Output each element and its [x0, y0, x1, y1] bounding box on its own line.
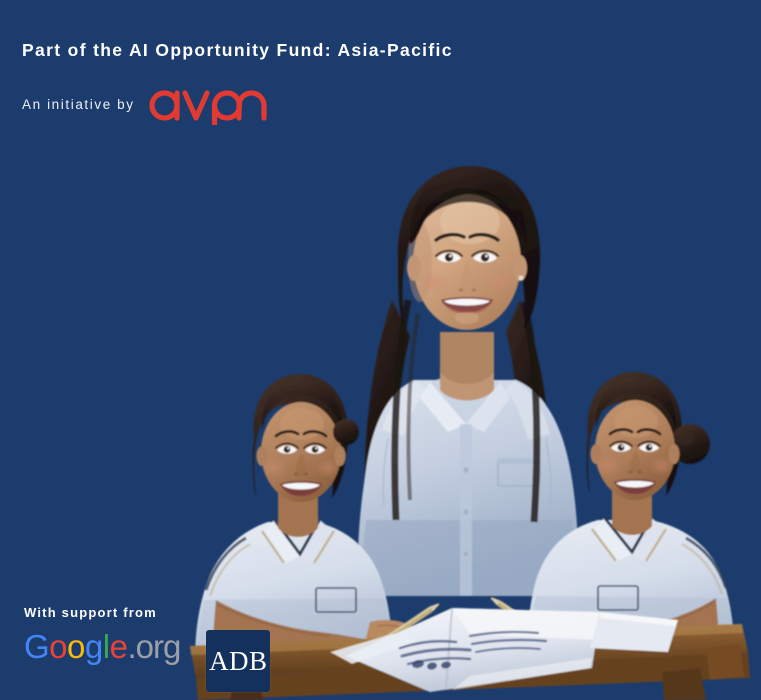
initiative-row: An initiative by [22, 83, 453, 125]
avpn-logo[interactable] [149, 83, 269, 125]
page-title: Part of the AI Opportunity Fund: Asia-Pa… [22, 40, 453, 61]
google-wordmark: Google [24, 628, 127, 665]
banner-header: Part of the AI Opportunity Fund: Asia-Pa… [22, 40, 453, 125]
banner-footer: With support from Google.org ADB [24, 605, 270, 692]
google-org-logo[interactable]: Google.org [24, 630, 180, 663]
google-letter-0: G [24, 628, 49, 665]
initiative-label: An initiative by [22, 97, 135, 112]
google-letter-3: g [85, 628, 103, 665]
google-letter-1: o [49, 628, 67, 665]
google-letter-4: l [103, 628, 110, 665]
adb-wordmark: ADB [209, 648, 268, 675]
adb-logo[interactable]: ADB [206, 630, 270, 692]
promo-banner: Part of the AI Opportunity Fund: Asia-Pa… [0, 0, 761, 700]
support-label: With support from [24, 605, 270, 620]
supporter-logos: Google.org ADB [24, 630, 270, 692]
google-org-suffix: .org [127, 628, 180, 665]
google-letter-2: o [67, 628, 85, 665]
google-letter-5: e [110, 628, 128, 665]
